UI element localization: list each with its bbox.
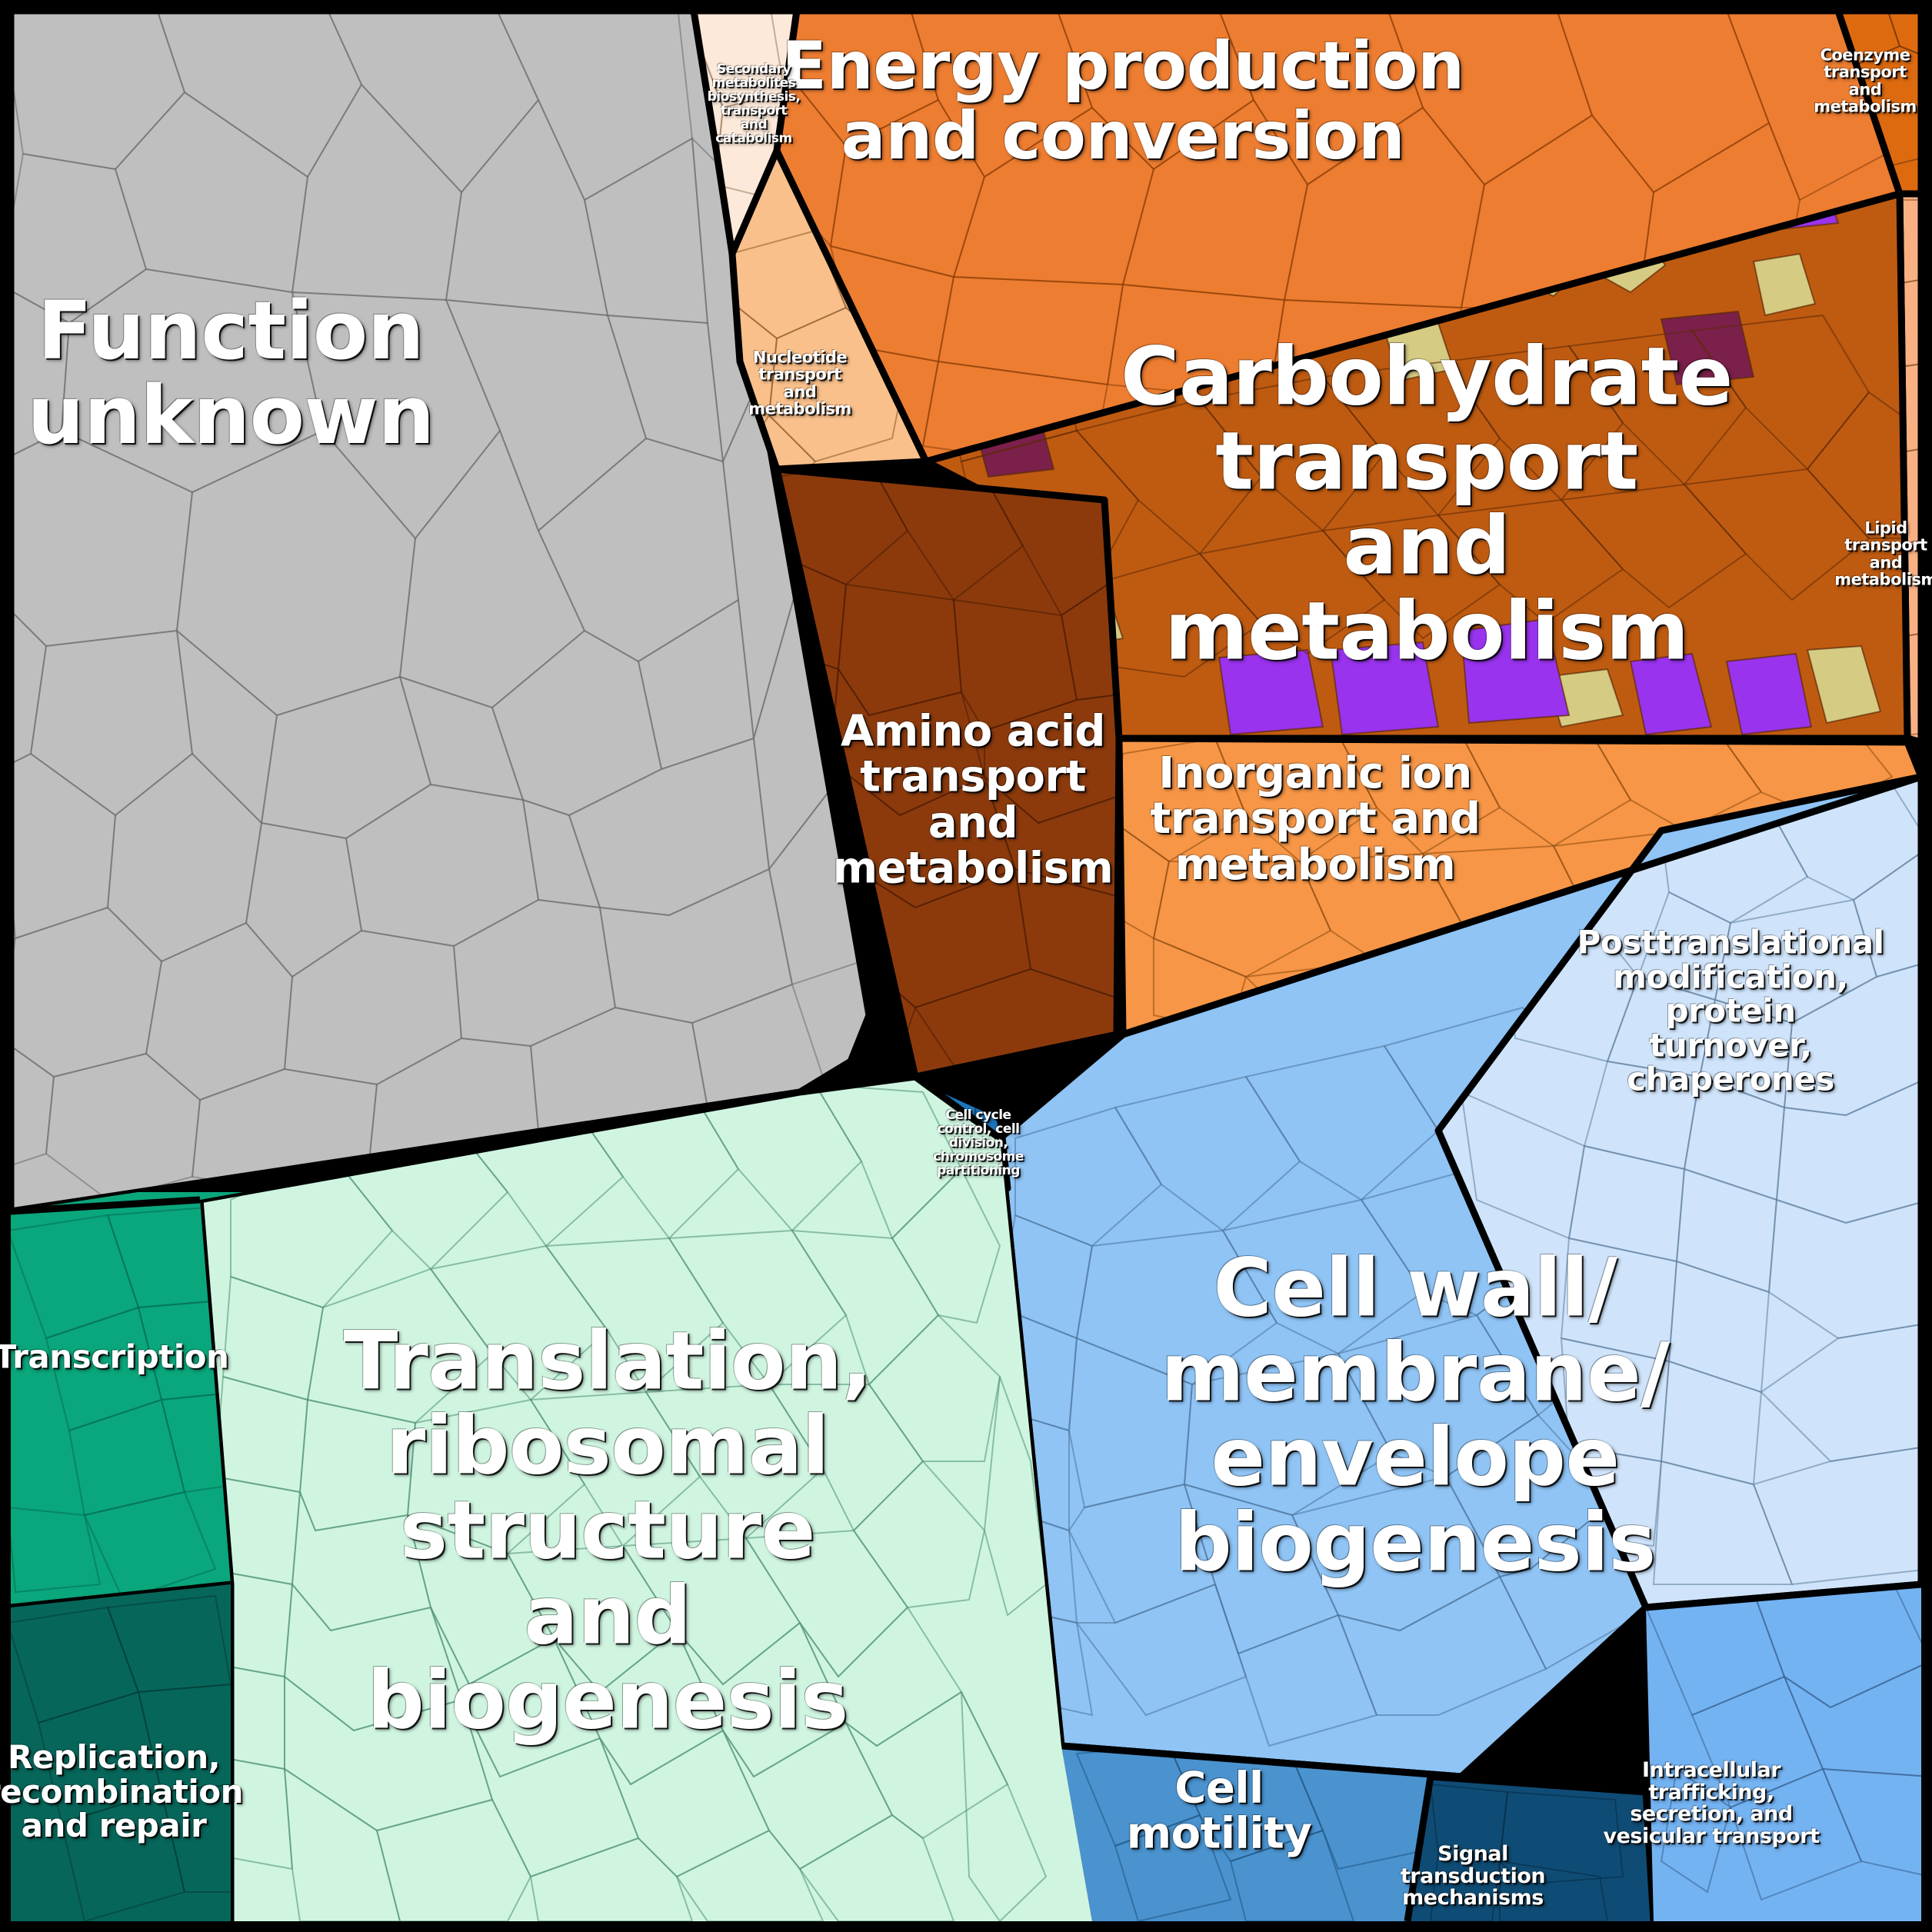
region-signal-transduction[interactable] (1384, 1761, 1692, 1932)
voronoi-treemap-figure: Function unknown Energy production and c… (0, 0, 1932, 1932)
region-replication[interactable] (0, 1577, 254, 1932)
region-intracellular-trafficking[interactable] (1615, 1569, 1932, 1930)
region-translation[interactable] (185, 1061, 1108, 1932)
voronoi-canvas (0, 0, 1932, 1932)
